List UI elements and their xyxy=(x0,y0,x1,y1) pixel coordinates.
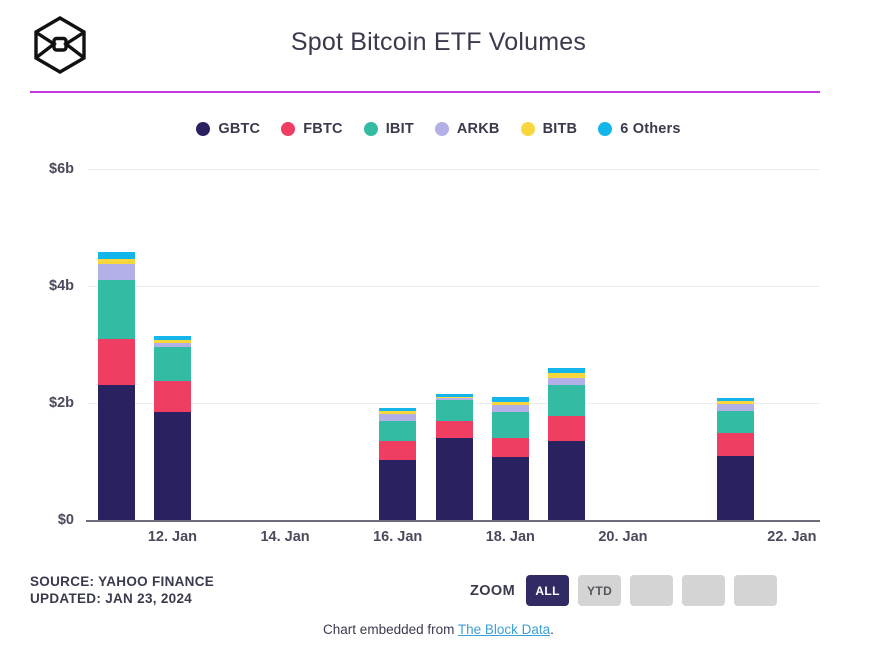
updated-line: UPDATED: JAN 23, 2024 xyxy=(30,590,214,607)
legend-label-bitb: BITB xyxy=(543,121,578,137)
legend-item-6-others[interactable]: 6 Others xyxy=(598,121,680,137)
bar-segment-gbtc xyxy=(154,412,191,520)
y-axis-tick-label: $2b xyxy=(49,395,74,411)
zoom-button-3[interactable] xyxy=(630,575,673,606)
chart-bars xyxy=(88,169,820,520)
bar-segment-ibit xyxy=(98,280,135,339)
bar-segment-fbtc xyxy=(436,421,473,439)
bar-segment-fbtc xyxy=(154,381,191,411)
embed-credit: Chart embedded from The Block Data. xyxy=(0,622,877,637)
bar-segment-bitb xyxy=(98,259,135,264)
bar-segment-arkb xyxy=(436,398,473,400)
bar-segment-fbtc xyxy=(717,433,754,455)
bar-segment-ibit xyxy=(436,400,473,421)
x-axis-tick-label: 20. Jan xyxy=(598,529,647,545)
bar-segment-gbtc xyxy=(492,457,529,520)
bar-segment-arkb xyxy=(154,343,191,348)
bar-segment-6-others xyxy=(548,368,585,373)
legend-label-arkb: ARKB xyxy=(457,121,500,137)
bar-segment-arkb xyxy=(492,405,529,413)
the-block-data-link[interactable]: The Block Data xyxy=(458,622,550,637)
legend-item-bitb[interactable]: BITB xyxy=(521,121,578,137)
y-axis-tick-label: $6b xyxy=(49,161,74,177)
chart-bar[interactable] xyxy=(98,252,135,520)
bar-segment-fbtc xyxy=(379,441,416,460)
bar-segment-ibit xyxy=(548,385,585,416)
legend-color-dot-6-others xyxy=(598,122,612,136)
zoom-button-all[interactable]: ALL xyxy=(526,575,569,606)
chart-page: Spot Bitcoin ETF Volumes GBTC FBTC IBIT … xyxy=(0,0,877,648)
x-axis-tick-label: 16. Jan xyxy=(373,529,422,545)
bar-segment-bitb xyxy=(492,402,529,405)
x-axis-tick-label: 22. Jan xyxy=(767,529,816,545)
chart-plot-area: $0$2b$4b$6b 12. Jan14. Jan16. Jan18. Jan… xyxy=(0,0,877,648)
chart-legend: GBTC FBTC IBIT ARKB BITB 6 Others xyxy=(0,121,877,137)
gridline xyxy=(88,169,820,170)
legend-item-gbtc[interactable]: GBTC xyxy=(196,121,260,137)
gridline xyxy=(88,403,820,404)
chart-bar[interactable] xyxy=(379,408,416,520)
legend-color-dot-gbtc xyxy=(196,122,210,136)
bar-segment-fbtc xyxy=(492,438,529,457)
bar-segment-gbtc xyxy=(98,385,135,520)
zoom-button-ytd[interactable]: YTD xyxy=(578,575,621,606)
bar-segment-ibit xyxy=(154,347,191,381)
chart-x-axis-line xyxy=(86,520,820,522)
legend-item-ibit[interactable]: IBIT xyxy=(364,121,414,137)
embed-suffix: . xyxy=(550,622,554,637)
bar-segment-arkb xyxy=(717,404,754,411)
bar-segment-6-others xyxy=(379,408,416,411)
chart-source: SOURCE: YAHOO FINANCE UPDATED: JAN 23, 2… xyxy=(30,573,214,607)
legend-label-ibit: IBIT xyxy=(386,121,414,137)
bar-segment-gbtc xyxy=(379,460,416,520)
zoom-button-5[interactable] xyxy=(734,575,777,606)
bar-segment-fbtc xyxy=(98,339,135,386)
bar-segment-6-others xyxy=(154,336,191,340)
x-axis-tick-label: 18. Jan xyxy=(486,529,535,545)
x-axis-tick-label: 14. Jan xyxy=(260,529,309,545)
legend-color-dot-bitb xyxy=(521,122,535,136)
bar-segment-arkb xyxy=(379,414,416,421)
x-axis-tick-label: 12. Jan xyxy=(148,529,197,545)
chart-bar[interactable] xyxy=(492,397,529,520)
bar-segment-bitb xyxy=(154,340,191,343)
bar-segment-fbtc xyxy=(548,416,585,441)
gridline xyxy=(88,286,820,287)
title-divider xyxy=(30,91,820,93)
chart-bar[interactable] xyxy=(717,398,754,520)
bar-segment-gbtc xyxy=(717,456,754,520)
y-axis-tick-label: $0 xyxy=(58,512,74,528)
bar-segment-gbtc xyxy=(436,438,473,520)
zoom-button-4[interactable] xyxy=(682,575,725,606)
bar-segment-bitb xyxy=(548,373,585,378)
legend-color-dot-arkb xyxy=(435,122,449,136)
source-line: SOURCE: YAHOO FINANCE xyxy=(30,573,214,590)
y-axis-tick-label: $4b xyxy=(49,278,74,294)
bar-segment-bitb xyxy=(379,411,416,414)
bar-segment-bitb xyxy=(717,401,754,404)
bar-segment-6-others xyxy=(98,252,135,258)
bar-segment-6-others xyxy=(717,398,754,400)
bar-segment-6-others xyxy=(492,397,529,402)
legend-color-dot-ibit xyxy=(364,122,378,136)
bar-segment-6-others xyxy=(436,394,473,396)
page-title: Spot Bitcoin ETF Volumes xyxy=(0,28,877,57)
bar-segment-ibit xyxy=(379,421,416,441)
legend-item-arkb[interactable]: ARKB xyxy=(435,121,500,137)
embed-prefix: Chart embedded from xyxy=(323,622,458,637)
legend-color-dot-fbtc xyxy=(281,122,295,136)
chart-bar[interactable] xyxy=(436,394,473,520)
chart-bar[interactable] xyxy=(154,336,191,520)
bar-segment-bitb xyxy=(436,397,473,398)
bar-segment-ibit xyxy=(717,411,754,434)
legend-item-fbtc[interactable]: FBTC xyxy=(281,121,342,137)
bar-segment-arkb xyxy=(98,264,135,280)
zoom-control-group: ZOOM ALL YTD xyxy=(470,575,777,606)
legend-label-gbtc: GBTC xyxy=(218,121,260,137)
legend-label-6-others: 6 Others xyxy=(620,121,680,137)
zoom-label: ZOOM xyxy=(470,583,515,599)
bar-segment-gbtc xyxy=(548,441,585,520)
bar-segment-arkb xyxy=(548,378,585,385)
chart-canvas: $0$2b$4b$6b 12. Jan14. Jan16. Jan18. Jan… xyxy=(88,169,820,520)
legend-label-fbtc: FBTC xyxy=(303,121,342,137)
bar-segment-ibit xyxy=(492,412,529,438)
chart-bar[interactable] xyxy=(548,368,585,520)
